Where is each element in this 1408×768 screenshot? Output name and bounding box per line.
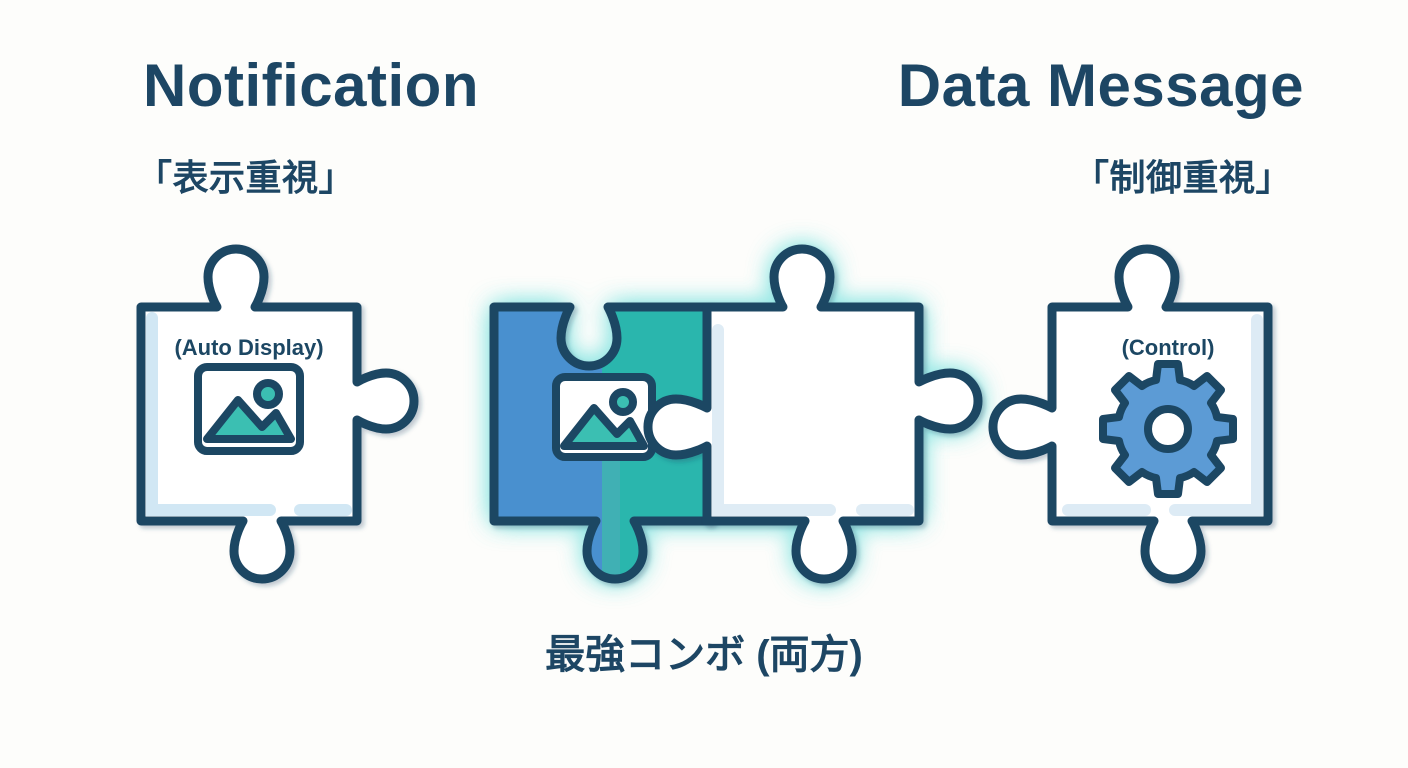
diagram-canvas: Notification 「表示重視」 Data Message 「制御重視」 <box>0 0 1408 768</box>
notification-piece: (Auto Display) <box>141 249 414 579</box>
caption-text: 最強コンボ (両方) <box>0 622 1408 680</box>
data-message-piece: (Control) <box>993 249 1268 579</box>
image-icon <box>198 367 300 451</box>
data-message-piece-label: (Control) <box>1122 335 1215 360</box>
notification-piece-label: (Auto Display) <box>174 335 323 360</box>
image-icon <box>556 377 652 457</box>
puzzle-piece-outline <box>648 249 978 579</box>
combo-piece-right <box>648 249 978 579</box>
